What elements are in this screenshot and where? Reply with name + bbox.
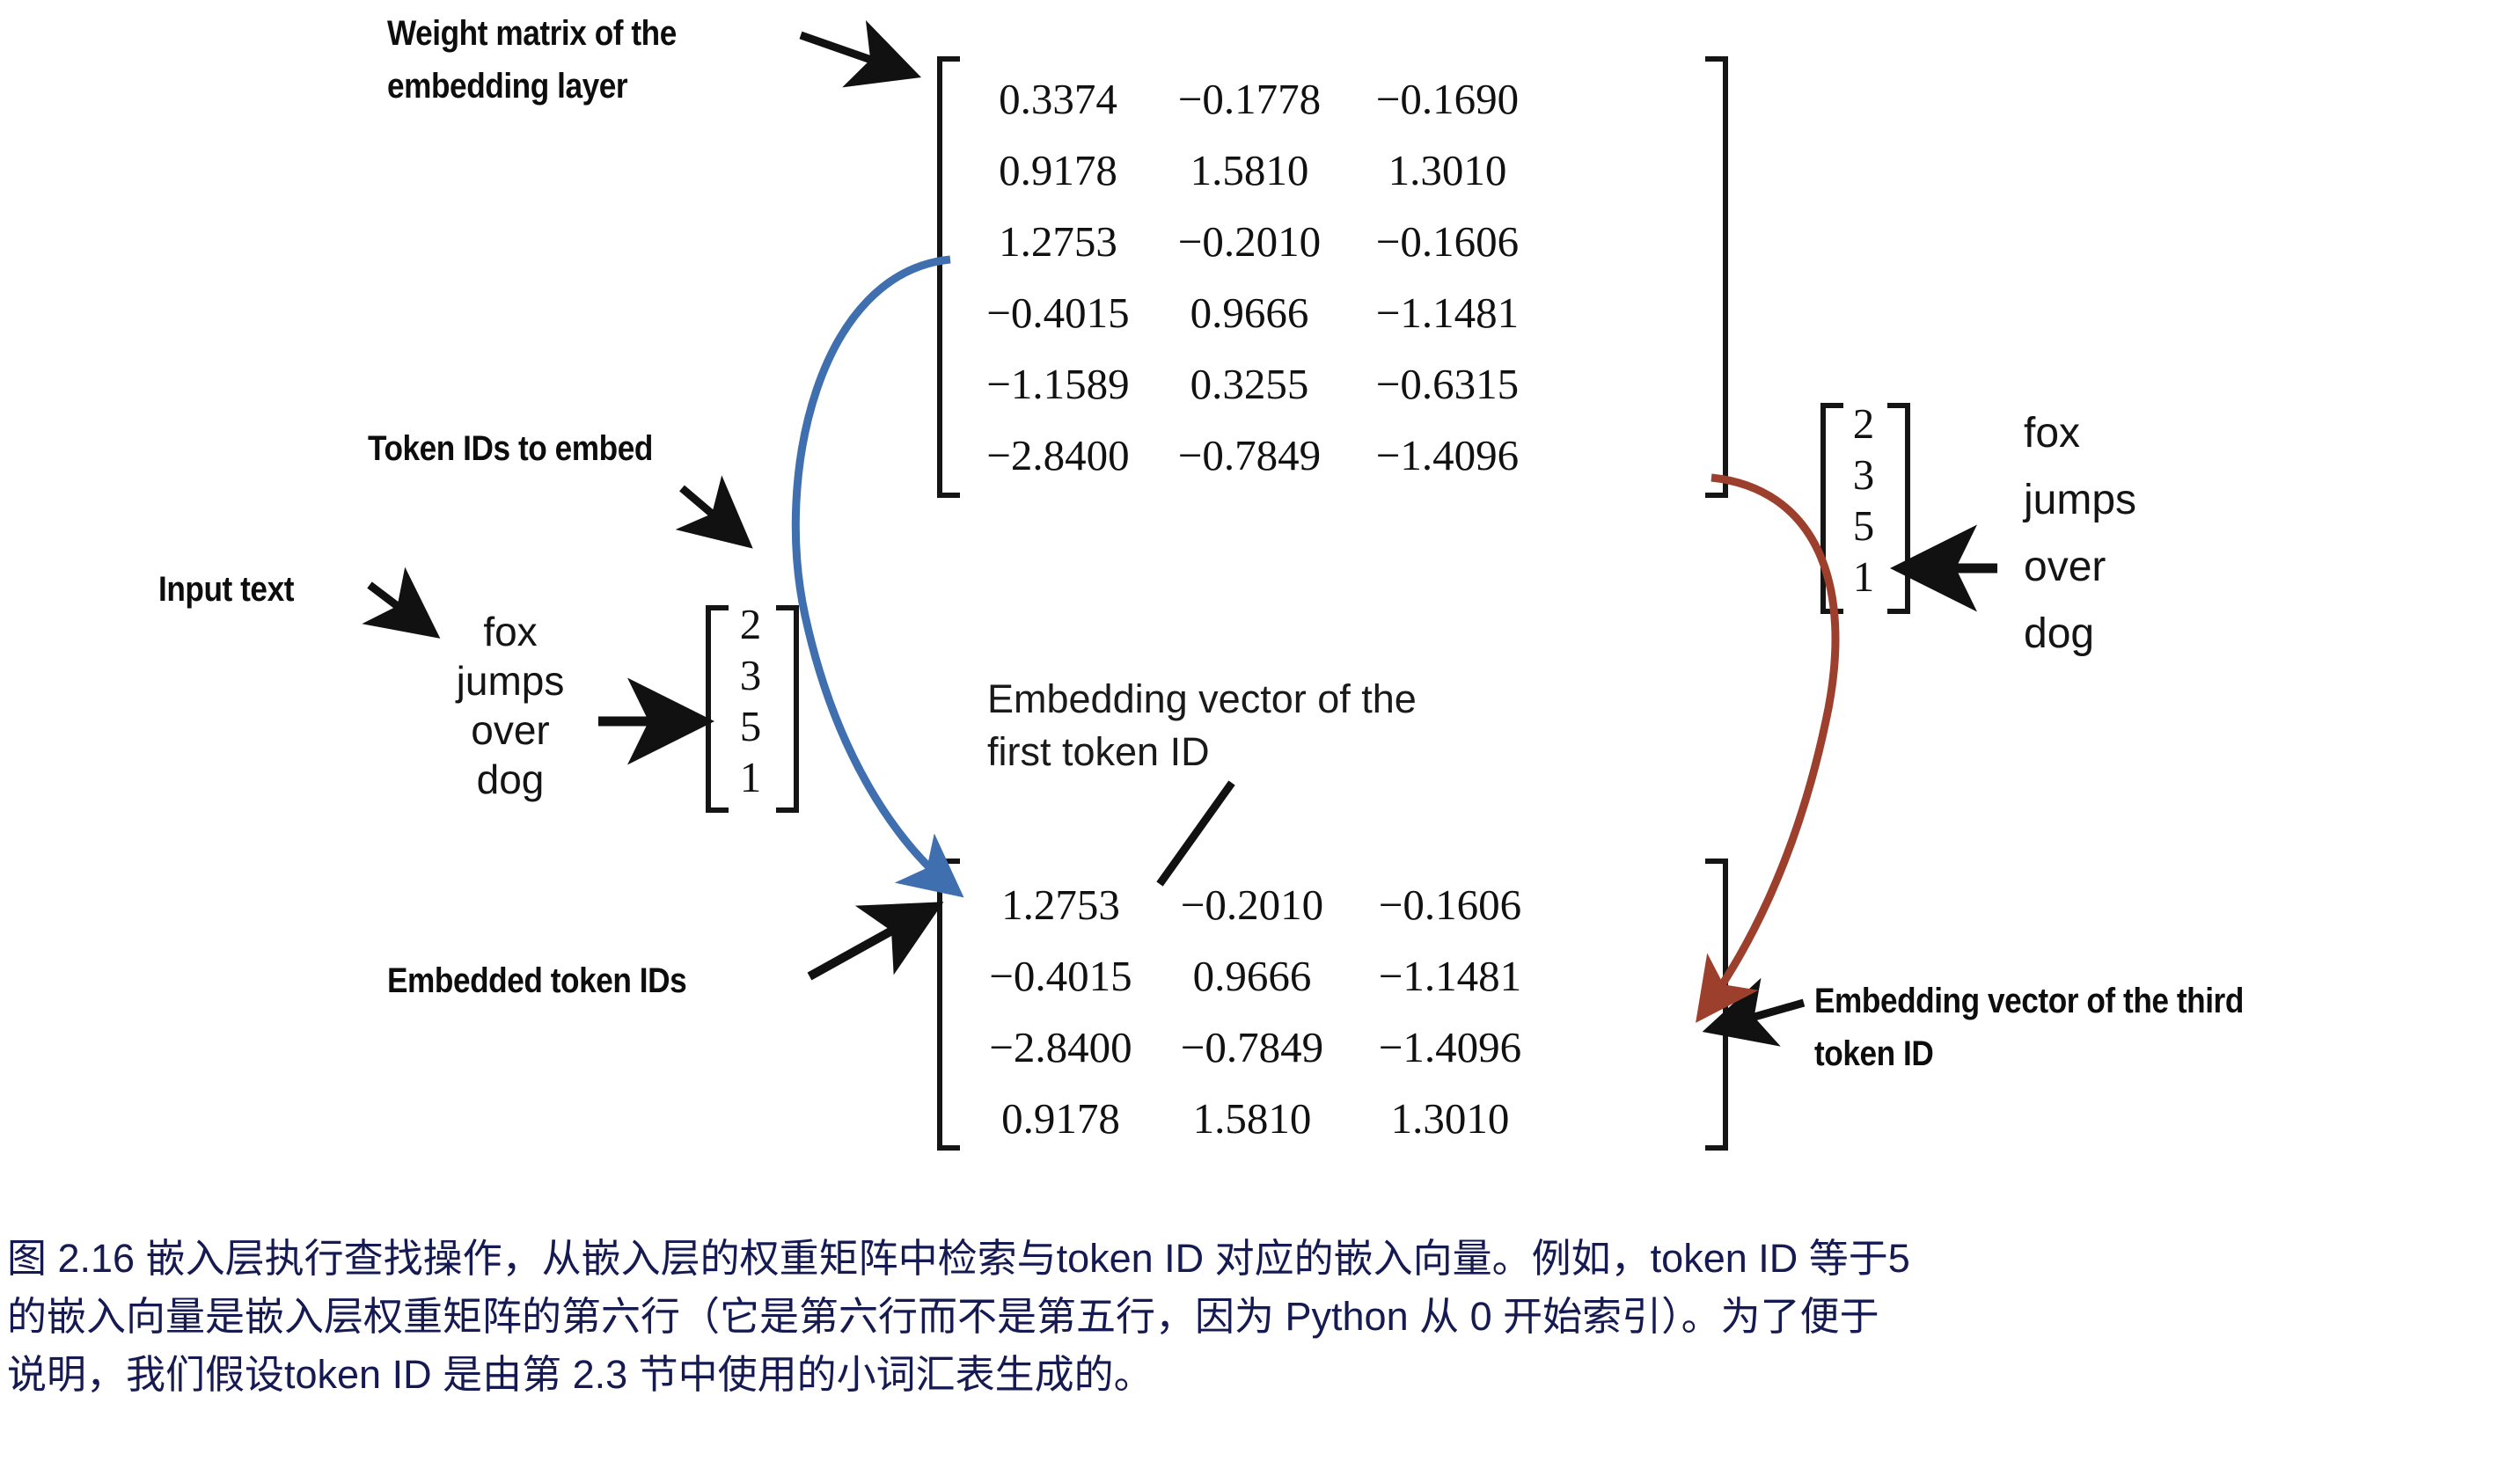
token-id-right-2: 5 bbox=[1835, 500, 1893, 551]
right-word-3: dog bbox=[2024, 601, 2235, 668]
weight-matrix-row-highlighted-red: −2.8400 −0.7849 −1.4096 bbox=[963, 420, 1549, 491]
token-id-vector-left: 2 3 5 1 bbox=[722, 598, 780, 802]
weight-matrix: 0.3374 −0.1778 −0.1690 0.9178 1.5810 1.3… bbox=[963, 63, 1549, 491]
weight-matrix-row: 0.3374 −0.1778 −0.1690 bbox=[963, 63, 1549, 135]
figure-canvas: Weight matrix of the embedding layer Tok… bbox=[0, 0, 2520, 1476]
embedded-matrix-row: −0.4015 0.9666 −1.1481 bbox=[966, 940, 1551, 1012]
embedded-matrix-row: 0.9178 1.5810 1.3010 bbox=[966, 1083, 1551, 1154]
token-id-right-1: 3 bbox=[1835, 449, 1893, 500]
token-id-right-0: 2 bbox=[1835, 398, 1893, 449]
token-id-vector-right: 2 3 5 1 bbox=[1835, 398, 1893, 602]
input-word-2: over bbox=[405, 705, 616, 755]
input-text-words: fox jumps over dog bbox=[405, 607, 616, 804]
arrow-weight-matrix bbox=[801, 35, 906, 72]
input-word-3: dog bbox=[405, 755, 616, 804]
token-id-left-1: 3 bbox=[722, 649, 780, 700]
weight-matrix-row: −1.1589 0.3255 −0.6315 bbox=[963, 348, 1549, 420]
input-word-1: jumps bbox=[405, 656, 616, 705]
token-id-right-3: 1 bbox=[1835, 551, 1893, 602]
label-embedding-vector-first: Embedding vector of the first token ID bbox=[987, 673, 1417, 778]
right-word-2: over bbox=[2024, 534, 2235, 601]
token-id-left-3: 1 bbox=[722, 751, 780, 802]
arrow-token-ids bbox=[682, 488, 741, 538]
embedded-matrix-row-highlighted-blue: 1.2753 −0.2010 −0.1606 bbox=[966, 869, 1551, 940]
label-input-text: Input text bbox=[158, 563, 294, 616]
token-id-left-0: 2 bbox=[722, 598, 780, 649]
weight-matrix-row: −0.4015 0.9666 −1.1481 bbox=[963, 277, 1549, 348]
right-words: fox jumps over dog bbox=[2024, 400, 2235, 668]
label-token-ids-to-embed: Token IDs to embed bbox=[368, 422, 653, 475]
right-word-0: fox bbox=[2024, 400, 2235, 467]
label-embedding-vector-third: Embedding vector of the third token ID bbox=[1814, 975, 2244, 1080]
embedded-matrix-row-highlighted-red: −2.8400 −0.7849 −1.4096 bbox=[966, 1012, 1551, 1083]
input-word-0: fox bbox=[405, 607, 616, 656]
label-weight-matrix: Weight matrix of the embedding layer bbox=[387, 7, 677, 113]
weight-matrix-row-highlighted-blue: 1.2753 −0.2010 −0.1606 bbox=[963, 206, 1549, 277]
arrow-embedding-vector-third bbox=[1718, 1003, 1804, 1027]
caption-line-3: 说明，我们假设token ID 是由第 2.3 节中使用的小词汇表生成的。 bbox=[7, 1346, 2515, 1404]
weight-matrix-row: 0.9178 1.5810 1.3010 bbox=[963, 135, 1549, 206]
label-embedded-token-ids: Embedded token IDs bbox=[387, 954, 686, 1007]
embedded-matrix: 1.2753 −0.2010 −0.1606 −0.4015 0.9666 −1… bbox=[966, 869, 1551, 1154]
arrow-embedded-token-ids bbox=[809, 910, 928, 976]
right-word-1: jumps bbox=[2024, 467, 2235, 534]
figure-caption: 图 2.16 嵌入层执行查找操作，从嵌入层的权重矩阵中检索与token ID 对… bbox=[7, 1230, 2515, 1404]
caption-line-1: 图 2.16 嵌入层执行查找操作，从嵌入层的权重矩阵中检索与token ID 对… bbox=[7, 1230, 2515, 1288]
caption-line-2: 的嵌入向量是嵌入层权重矩阵的第六行（它是第六行而不是第五行，因为 Python … bbox=[7, 1288, 2515, 1346]
token-id-left-2: 5 bbox=[722, 700, 780, 751]
blue-lookup-curve bbox=[795, 259, 955, 890]
